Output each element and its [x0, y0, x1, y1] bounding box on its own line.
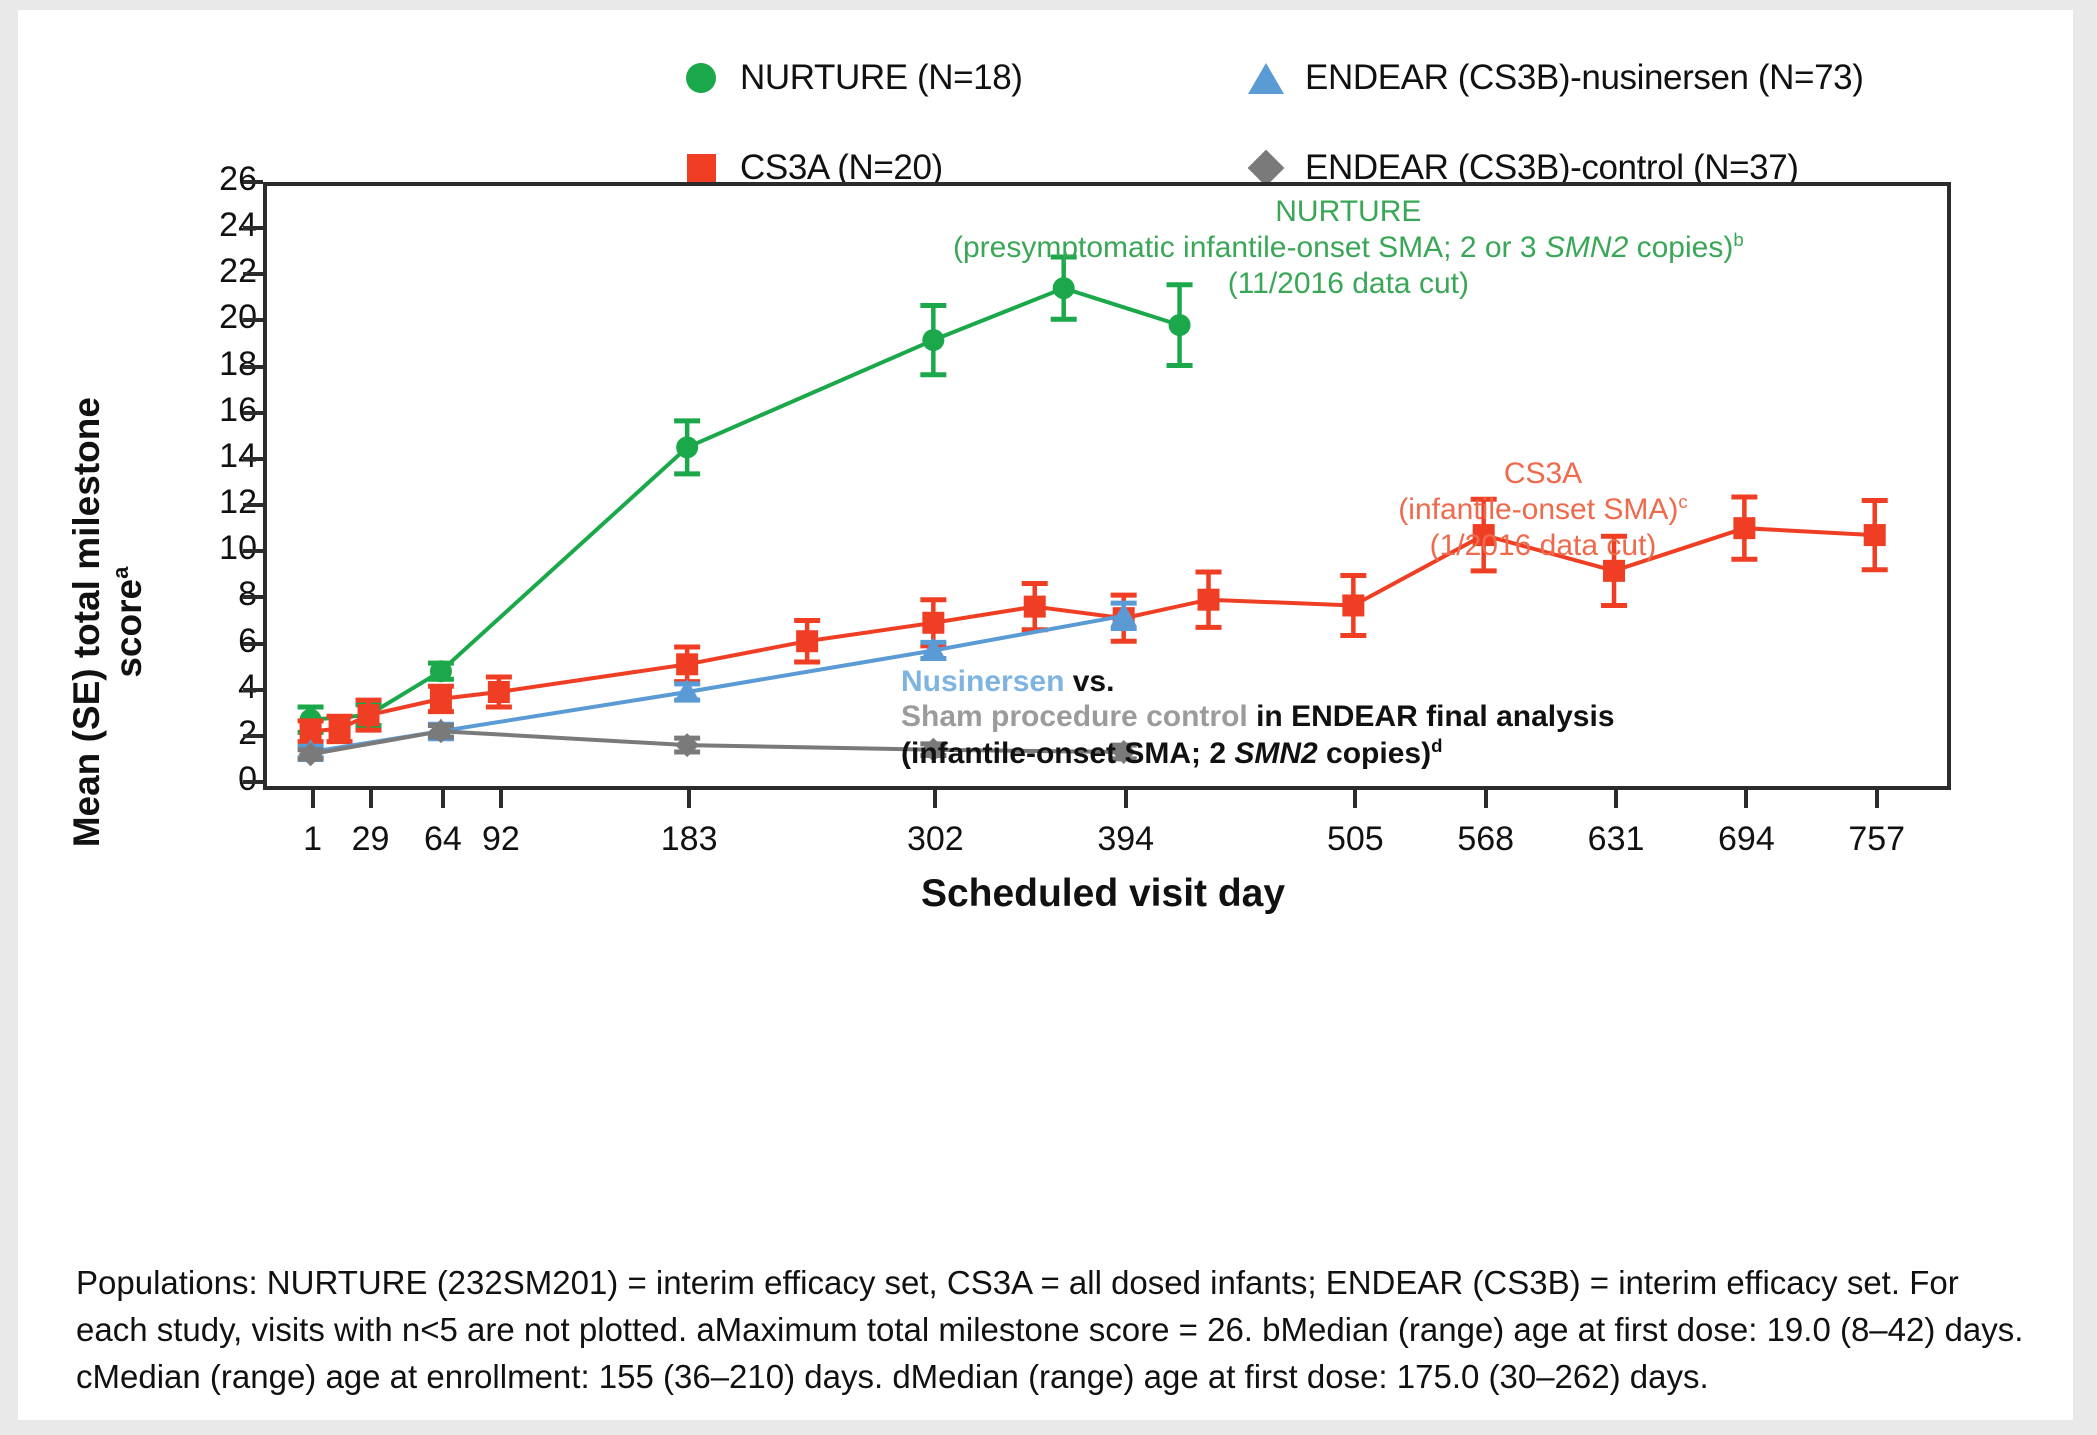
- x-tick-mark: [311, 786, 315, 808]
- x-tick-mark: [1744, 786, 1748, 808]
- annotation-nurture-line1: NURTURE: [953, 194, 1744, 229]
- annotation-endear: Nusinersen vs. Sham procedure control in…: [901, 664, 1615, 771]
- x-axis-title: Scheduled visit day: [263, 872, 1943, 916]
- series-0: [298, 257, 1193, 732]
- y-tick-label: 6: [87, 622, 257, 661]
- circle-marker-icon: [678, 63, 724, 93]
- x-tick-label: 302: [907, 820, 964, 859]
- y-tick-label: 20: [87, 298, 257, 337]
- x-tick-mark: [1353, 786, 1357, 808]
- chart-legend: NURTURE (N=18) ENDEAR (CS3B)-nusinersen …: [18, 10, 2073, 170]
- x-tick-mark: [687, 786, 691, 808]
- y-tick-mark: [243, 503, 263, 507]
- y-tick-mark: [243, 595, 263, 599]
- data-point-marker: [430, 660, 452, 682]
- x-tick-label: 394: [1097, 820, 1154, 859]
- annotation-cs3a-line2: (infantile-onset SMA)c: [1378, 491, 1708, 527]
- x-tick-label: 183: [661, 820, 718, 859]
- data-point-marker: [1024, 596, 1046, 618]
- y-tick-label: 22: [87, 252, 257, 291]
- figure-card: NURTURE (N=18) ENDEAR (CS3B)-nusinersen …: [18, 10, 2073, 1420]
- y-tick-mark: [243, 272, 263, 276]
- x-tick-label: 92: [482, 820, 520, 859]
- data-point-marker: [329, 718, 351, 740]
- y-tick-label: 8: [87, 575, 257, 614]
- y-tick-mark: [243, 549, 263, 553]
- y-tick-mark: [243, 780, 263, 784]
- y-tick-label: 18: [87, 345, 257, 384]
- y-tick-label: 24: [87, 206, 257, 245]
- y-tick-mark: [243, 365, 263, 369]
- annotation-nurture-line2: (presymptomatic infantile-onset SMA; 2 o…: [953, 229, 1744, 265]
- x-tick-mark: [499, 786, 503, 808]
- x-tick-label: 1: [303, 820, 322, 859]
- annotation-nurture: NURTURE (presymptomatic infantile-onset …: [953, 194, 1744, 301]
- y-tick-label: 14: [87, 437, 257, 476]
- x-tick-mark: [1614, 786, 1618, 808]
- y-tick-label: 16: [87, 391, 257, 430]
- x-tick-label: 631: [1588, 820, 1645, 859]
- triangle-marker-icon: [1243, 63, 1289, 94]
- x-tick-label: 568: [1457, 820, 1514, 859]
- chart-area: Mean (SE) total milestone scorea NURTURE…: [18, 160, 2073, 1220]
- data-point-marker: [1198, 589, 1220, 611]
- data-point-marker: [1864, 524, 1886, 546]
- plot-canvas: NURTURE (presymptomatic infantile-onset …: [263, 182, 1943, 782]
- annotation-endear-line3: (infantile-onset SMA; 2 SMN2 copies)d: [901, 735, 1615, 771]
- x-tick-mark: [933, 786, 937, 808]
- y-tick-label: 26: [87, 160, 257, 199]
- annotation-nurture-line3: (11/2016 data cut): [953, 266, 1744, 301]
- x-tick-label: 29: [352, 820, 390, 859]
- y-tick-label: 0: [87, 760, 257, 799]
- annotation-cs3a-line1: CS3A: [1378, 456, 1708, 491]
- data-point-marker: [300, 720, 322, 742]
- data-point-marker: [676, 436, 698, 458]
- data-point-marker: [430, 688, 452, 710]
- x-tick-label: 694: [1718, 820, 1775, 859]
- legend-item-nurture: NURTURE (N=18): [678, 58, 1023, 98]
- y-tick-mark: [243, 318, 263, 322]
- data-point-marker: [922, 612, 944, 634]
- annotation-endear-line2: Sham procedure control in ENDEAR final a…: [901, 699, 1615, 734]
- data-point-marker: [358, 704, 380, 726]
- legend-item-endear-nusinersen: ENDEAR (CS3B)-nusinersen (N=73): [1243, 58, 1864, 98]
- x-tick-mark: [1124, 786, 1128, 808]
- y-tick-label: 2: [87, 714, 257, 753]
- x-tick-label: 64: [424, 820, 462, 859]
- data-point-marker: [488, 681, 510, 703]
- y-tick-label: 4: [87, 668, 257, 707]
- x-tick-label: 505: [1327, 820, 1384, 859]
- y-tick-label: 10: [87, 529, 257, 568]
- annotation-cs3a: CS3A (infantile-onset SMA)c (1/2016 data…: [1378, 456, 1708, 563]
- x-tick-mark: [369, 786, 373, 808]
- y-tick-mark: [243, 457, 263, 461]
- annotation-endear-line1: Nusinersen vs.: [901, 664, 1615, 699]
- x-tick-label: 757: [1848, 820, 1905, 859]
- y-tick-mark: [243, 180, 263, 184]
- legend-label-nurture: NURTURE (N=18): [740, 58, 1023, 98]
- x-tick-mark: [441, 786, 445, 808]
- data-point-marker: [796, 630, 818, 652]
- data-point-marker: [1342, 594, 1364, 616]
- legend-label-endear-nusinersen: ENDEAR (CS3B)-nusinersen (N=73): [1305, 58, 1864, 98]
- data-point-marker: [1169, 314, 1191, 336]
- data-point-marker: [676, 653, 698, 675]
- data-point-marker: [1733, 517, 1755, 539]
- y-tick-mark: [243, 734, 263, 738]
- y-tick-mark: [243, 226, 263, 230]
- y-tick-label: 12: [87, 483, 257, 522]
- y-tick-mark: [243, 642, 263, 646]
- y-tick-mark: [243, 411, 263, 415]
- x-tick-mark: [1875, 786, 1879, 808]
- y-tick-mark: [243, 688, 263, 692]
- data-point-marker: [922, 329, 944, 351]
- x-tick-mark: [1484, 786, 1488, 808]
- annotation-cs3a-line3: (1/2016 data cut): [1378, 528, 1708, 563]
- figure-footnote: Populations: NURTURE (232SM201) = interi…: [76, 1260, 2036, 1401]
